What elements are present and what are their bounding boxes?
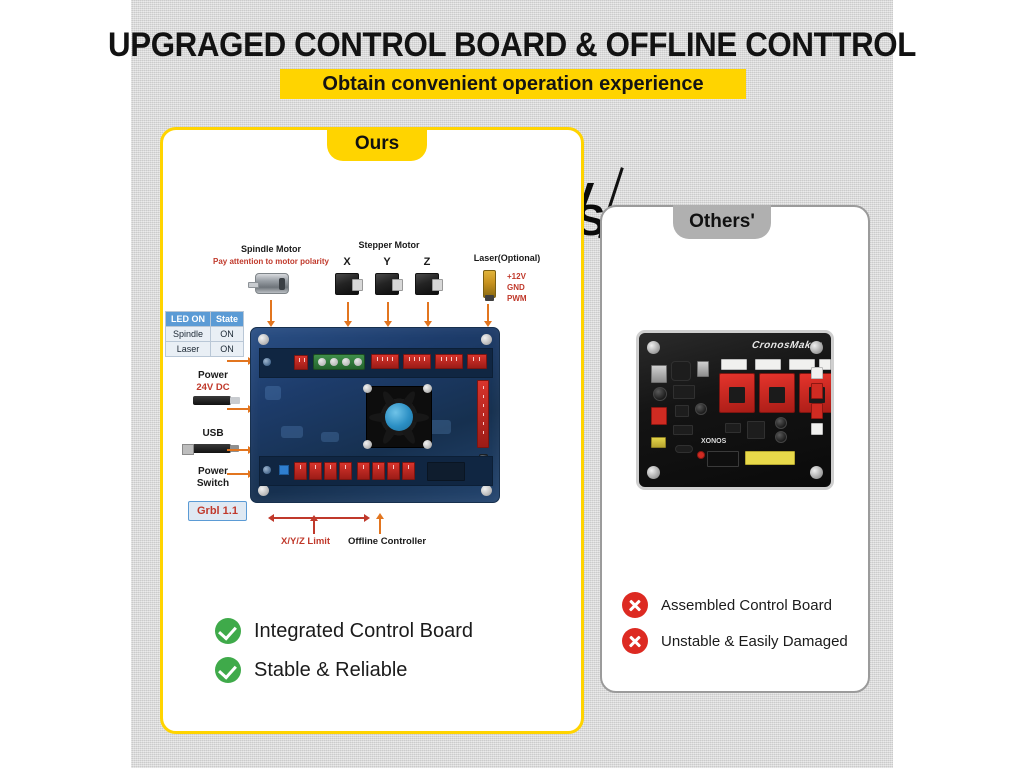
stepper-motor-icon-x — [335, 273, 359, 295]
usb-port — [651, 437, 666, 448]
side-connector — [811, 383, 823, 399]
voltage-regulator — [697, 361, 709, 377]
power-voltage-label: 24V DC — [175, 382, 251, 393]
ours-bullet-row: Stable & Reliable — [215, 657, 407, 683]
offline-controller-arrow — [379, 518, 381, 534]
side-header — [811, 367, 823, 379]
stepper-header — [755, 359, 781, 370]
stepper-motor-title: Stepper Motor — [329, 240, 449, 250]
arrow-laser-to-board — [487, 304, 489, 322]
led-table-header-state: State — [211, 312, 244, 327]
capacitor — [695, 403, 707, 415]
laser-pin-12v: +12V — [507, 272, 527, 283]
resistor-array — [673, 425, 693, 435]
ours-control-board-image — [250, 327, 500, 503]
arrow-led-table — [227, 360, 249, 362]
subtitle-text: Obtain convenient operation experience — [322, 73, 703, 96]
firmware-version-badge: Grbl 1.1 — [188, 501, 247, 521]
board-screw — [647, 466, 660, 479]
ours-bullet-text: Integrated Control Board — [254, 620, 473, 643]
fan-hub-label — [385, 403, 413, 431]
acrylic-highlight — [265, 386, 281, 400]
limit-dimension-line — [273, 517, 365, 519]
limit-connector — [372, 462, 385, 480]
mosfet — [675, 405, 689, 417]
usb-uart-chip — [725, 423, 741, 433]
arrow-stepper-z — [427, 302, 429, 322]
xyz-limit-label: X/Y/Z Limit — [281, 536, 330, 547]
laser-connector — [467, 354, 487, 369]
board-screw — [258, 334, 269, 345]
laser-pin-labels: +12V GND PWM — [507, 272, 527, 304]
arrow-stepper-x — [347, 302, 349, 322]
capacitor — [775, 431, 787, 443]
ours-bullet-text: Stable & Reliable — [254, 659, 407, 682]
check-circle-icon — [215, 618, 241, 644]
usb-cable-icon — [191, 444, 231, 453]
x-circle-icon — [622, 628, 648, 654]
page-title: UPGRAGED CONTROL BOARD & OFFLINE CONTTRO… — [41, 26, 983, 65]
others-bullet-row: Assembled Control Board — [622, 592, 832, 618]
screw-terminal-green — [313, 354, 365, 370]
stepper-header — [721, 359, 747, 370]
dc-power-plug-icon — [193, 396, 231, 405]
arrow-usb — [227, 449, 249, 451]
mcu-chip — [747, 421, 765, 439]
arrow-spindle-to-board — [270, 300, 272, 322]
arrow-stepper-y — [387, 302, 389, 322]
limit-connector — [324, 462, 337, 480]
others-control-board-image: CronosMaker XONOS — [636, 330, 834, 490]
led-table-header-led: LED ON — [166, 312, 211, 327]
laser-pin-gnd: GND — [507, 283, 527, 294]
laser-title: Laser(Optional) — [459, 253, 555, 263]
usb-label: USB — [175, 428, 251, 439]
fan-screw — [423, 440, 432, 449]
tab-others-label: Others' — [689, 211, 755, 233]
stepper-connector-z — [435, 354, 463, 369]
stepper-driver-module — [719, 373, 755, 413]
stepper-driver-module — [759, 373, 795, 413]
side-header — [811, 423, 823, 435]
acrylic-highlight — [321, 432, 339, 442]
power-switch-button — [279, 465, 289, 475]
spindle-connector — [294, 355, 308, 370]
dc-jack — [651, 365, 667, 383]
infographic-root: UPGRAGED CONTROL BOARD & OFFLINE CONTTRO… — [0, 0, 1024, 768]
idc-header — [707, 451, 739, 467]
inductor — [671, 361, 691, 381]
board-screw — [810, 466, 823, 479]
stepper-connector-x — [371, 354, 399, 369]
out12v-steering-header — [477, 380, 489, 448]
led-table-row: Spindle ON — [166, 327, 244, 342]
board-screw — [258, 485, 269, 496]
tab-others[interactable]: Others' — [673, 205, 771, 239]
stepper-motor-icon-y — [375, 273, 399, 295]
led-state-table: LED ON State Spindle ON Laser ON — [165, 311, 244, 357]
limit-connector — [387, 462, 400, 480]
board-inner-screw — [263, 358, 271, 366]
limit-connector — [339, 462, 352, 480]
terminal-block — [651, 407, 667, 425]
board-screw — [481, 485, 492, 496]
offline-pin-header — [745, 451, 795, 465]
offline-controller-header — [427, 462, 465, 481]
capacitor — [775, 417, 787, 429]
stepper-axis-x: X — [339, 256, 355, 268]
board-screw — [810, 341, 823, 354]
power-label: Power — [175, 370, 251, 381]
x-circle-icon — [622, 592, 648, 618]
check-circle-icon — [215, 657, 241, 683]
board-screw — [647, 341, 660, 354]
tab-ours[interactable]: Ours — [327, 127, 427, 161]
subtitle-banner: Obtain convenient operation experience — [280, 69, 746, 99]
others-bullet-text: Unstable & Easily Damaged — [661, 633, 848, 650]
board-inner-screw — [263, 466, 271, 474]
spindle-motor-icon — [255, 273, 289, 294]
arrow-power-switch — [227, 473, 249, 475]
side-connector — [811, 403, 823, 419]
laser-pin-pwm: PWM — [507, 294, 527, 305]
stepper-axis-z: Z — [419, 256, 435, 268]
fan-screw — [423, 384, 432, 393]
offline-controller-label: Offline Controller — [348, 536, 426, 547]
driver-ic — [673, 385, 695, 399]
spindle-motor-note: Pay attention to motor polarity — [191, 257, 351, 266]
spindle-motor-title: Spindle Motor — [201, 244, 341, 254]
stepper-motor-icon-z — [415, 273, 439, 295]
led-row-spindle-state: ON — [211, 327, 244, 342]
limit-connector — [402, 462, 415, 480]
stepper-axis-y: Y — [379, 256, 395, 268]
power-switch-label-line1: Power — [175, 466, 251, 477]
acrylic-highlight — [281, 426, 303, 438]
led-row-laser-name: Laser — [166, 342, 211, 357]
tab-ours-label: Ours — [355, 133, 399, 155]
limit-tick — [313, 520, 315, 534]
others-bullet-row: Unstable & Easily Damaged — [622, 628, 848, 654]
led-table-row: Laser ON — [166, 342, 244, 357]
capacitor — [653, 387, 667, 401]
arrow-power — [227, 408, 249, 410]
fan-screw — [363, 440, 372, 449]
power-switch-label-line2: Switch — [175, 478, 251, 489]
cooling-fan — [366, 386, 432, 448]
led-table-header-row: LED ON State — [166, 312, 244, 327]
led-row-spindle-name: Spindle — [166, 327, 211, 342]
limit-connector — [309, 462, 322, 480]
ours-bullet-row: Integrated Control Board — [215, 618, 473, 644]
limit-connector — [357, 462, 370, 480]
crystal-oscillator — [675, 445, 693, 453]
led-row-laser-state: ON — [211, 342, 244, 357]
limit-connector — [294, 462, 307, 480]
board-screw — [481, 334, 492, 345]
laser-module-icon — [483, 270, 496, 298]
fan-screw — [363, 384, 372, 393]
others-bullet-text: Assembled Control Board — [661, 597, 832, 614]
competitor-logo-label: XONOS — [701, 438, 726, 445]
reset-button — [697, 451, 705, 459]
stepper-connector-y — [403, 354, 431, 369]
